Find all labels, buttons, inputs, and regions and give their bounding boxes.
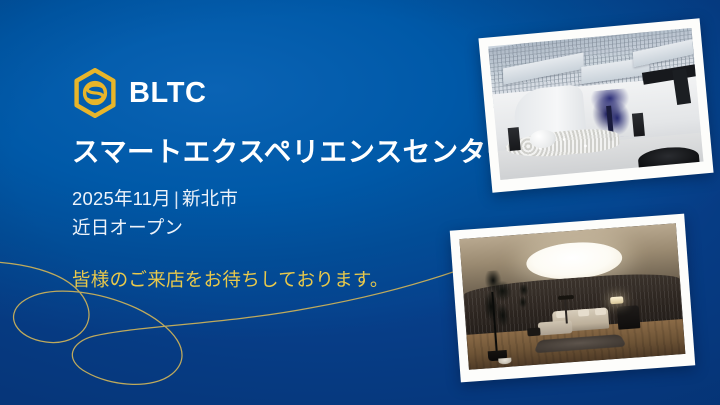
page-title: スマートエクスペリエンスセンター — [72, 136, 502, 168]
cushion — [595, 308, 606, 316]
photo-image-lounge — [459, 223, 685, 370]
armchair — [617, 305, 640, 330]
event-date: 2025年11月 — [72, 188, 171, 209]
event-date-location-line: 2025年11月|新北市 — [72, 185, 502, 214]
photo-image-bright — [488, 28, 703, 180]
cushion — [578, 309, 589, 317]
event-meta: 2025年11月|新北市 近日オープン — [72, 185, 502, 242]
bollard-light — [508, 127, 521, 151]
bltc-hexagon-logo-icon — [72, 68, 118, 118]
chaise-section — [537, 320, 573, 336]
lounge-dark-interior-photo — [450, 214, 696, 383]
slide-content: BLTC スマートエクスペリエンスセンター 2025年11月|新北市 近日オープ… — [72, 66, 502, 293]
welcome-tagline: 皆様のご来店をお待ちしております。 — [72, 267, 502, 293]
event-status: 近日オープン — [72, 214, 502, 243]
brand-name: BLTC — [129, 79, 207, 108]
event-location: 新北市 — [182, 188, 238, 209]
meta-separator: | — [171, 188, 182, 209]
bollard-light — [632, 113, 645, 137]
brand-lockup: BLTC — [72, 66, 502, 120]
small-plant — [515, 284, 536, 338]
presentation-slide: BLTC スマートエクスペリエンスセンター 2025年11月|新北市 近日オープ… — [0, 0, 720, 405]
table-lamp — [611, 297, 624, 304]
tall-plant — [477, 269, 522, 353]
showroom-bright-interior-photo — [478, 18, 713, 192]
